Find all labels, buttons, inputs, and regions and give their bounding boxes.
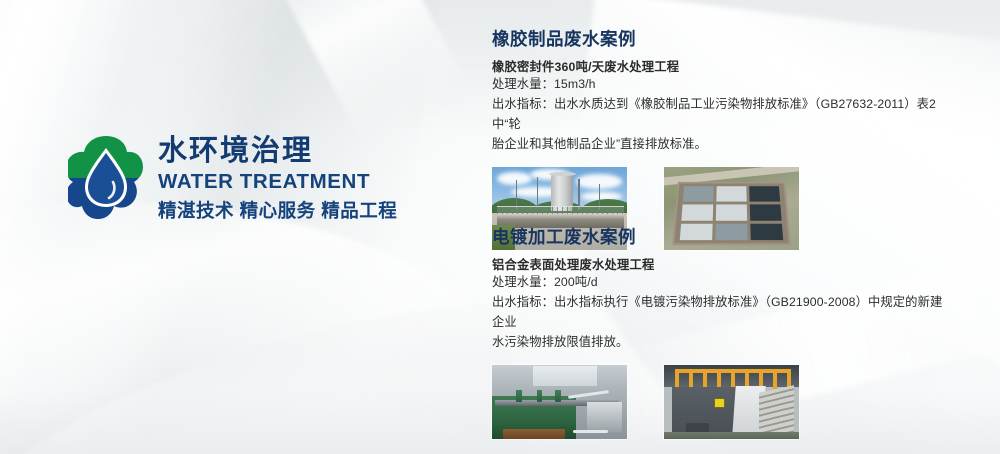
brand-logo-block: 水环境治理 WATER TREATMENT 精湛技术 精心服务 精品工程 — [68, 132, 397, 223]
case-standard-line-2: 胎企业和其他制品企业”直接排放标准。 — [492, 135, 952, 155]
case-title: 橡胶制品废水案例 — [492, 28, 952, 51]
case-subtitle: 铝合金表面处理废水处理工程 — [492, 257, 952, 274]
case-block-rubber: 橡胶制品废水案例 橡胶密封件360吨/天废水处理工程 处理水量：15m3/h 出… — [492, 28, 952, 250]
case-block-electroplating: 电镀加工废水案例 铝合金表面处理废水处理工程 处理水量：200吨/d 出水指标：… — [492, 226, 952, 439]
case-standard-line-1: 出水指标：出水水质达到《橡胶制品工业污染物排放标准》（GB27632-2011）… — [492, 95, 952, 135]
brand-title-en: WATER TREATMENT — [158, 169, 397, 196]
case-photo-row — [492, 365, 952, 439]
brand-slogan: 精湛技术 精心服务 精品工程 — [158, 199, 397, 223]
indoor-reaction-tanks-photo — [492, 365, 627, 439]
brand-text: 水环境治理 WATER TREATMENT 精湛技术 精心服务 精品工程 — [158, 132, 397, 223]
water-drop-flower-logo-icon — [68, 134, 144, 220]
banner-root: 水环境治理 WATER TREATMENT 精湛技术 精心服务 精品工程 橡胶制… — [0, 0, 1000, 454]
case-title: 电镀加工废水案例 — [492, 226, 952, 249]
brand-title-cn: 水环境治理 — [158, 134, 397, 168]
equipment-stairs-photo — [664, 365, 799, 439]
case-standard-line-1: 出水指标：出水指标执行《电镀污染物排放标准》（GB21900-2008）中规定的… — [492, 293, 952, 333]
case-standard-line-2: 水污染物排放限值排放。 — [492, 333, 952, 353]
case-capacity: 处理水量：15m3/h — [492, 75, 952, 95]
case-subtitle: 橡胶密封件360吨/天废水处理工程 — [492, 59, 952, 76]
case-capacity: 处理水量：200吨/d — [492, 273, 952, 293]
